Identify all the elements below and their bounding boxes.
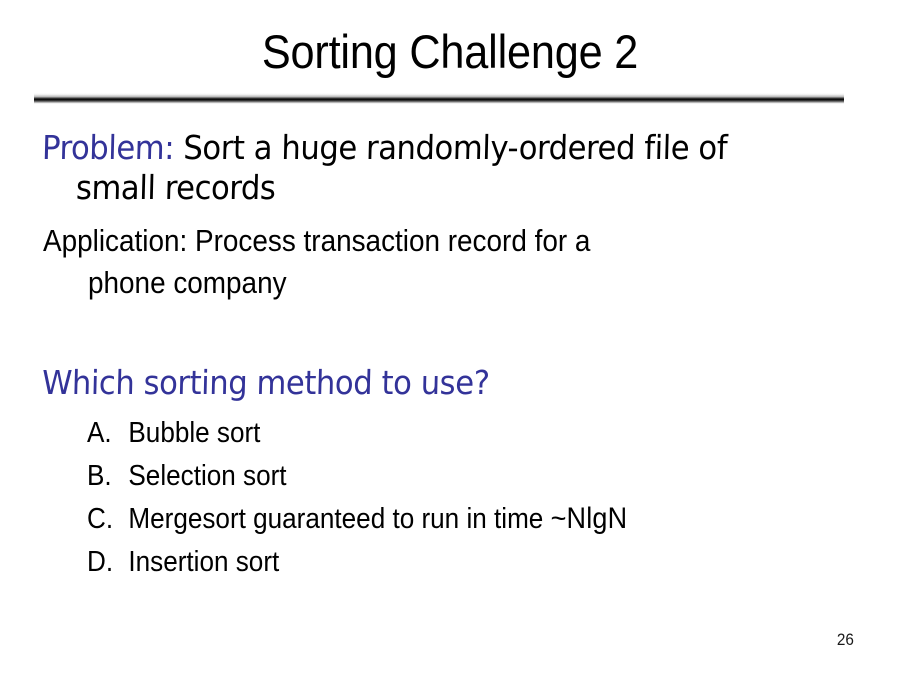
page-title: Sorting Challenge 2 xyxy=(36,24,864,80)
option-text-a: Bubble sort xyxy=(128,417,260,449)
problem-label: Problem: xyxy=(42,128,175,167)
title-divider-rule xyxy=(34,93,844,104)
problem-text-line-1: Sort a huge randomly-ordered file of xyxy=(183,128,728,167)
problem-line-1: Problem: Sort a huge randomly-ordered fi… xyxy=(42,128,728,168)
application-line-2: phone company xyxy=(88,264,287,302)
option-letter-d: D. xyxy=(87,544,128,580)
option-letter-c: C. xyxy=(87,501,128,537)
option-letter-a: A. xyxy=(87,415,128,451)
option-letter-b: B. xyxy=(87,458,128,494)
option-text-c: Mergesort guaranteed to run in time xyxy=(128,503,550,535)
option-row-c[interactable]: C.Mergesort guaranteed to run in time ~N… xyxy=(87,501,627,537)
question-prompt: Which sorting method to use? xyxy=(42,363,490,403)
option-row-a[interactable]: A.Bubble sort xyxy=(87,415,260,451)
application-line-1: Application: Process transaction record … xyxy=(43,222,590,260)
option-c-complexity: ~NlgN xyxy=(551,502,628,535)
option-text-b: Selection sort xyxy=(128,460,286,492)
page-number: 26 xyxy=(837,630,854,650)
option-row-d[interactable]: D.Insertion sort xyxy=(87,544,279,580)
option-text-d: Insertion sort xyxy=(128,546,279,578)
option-row-b[interactable]: B.Selection sort xyxy=(87,458,287,494)
slide-canvas: Sorting Challenge 2 Problem: Sort a huge… xyxy=(0,0,900,675)
problem-line-2: small records xyxy=(76,168,276,208)
